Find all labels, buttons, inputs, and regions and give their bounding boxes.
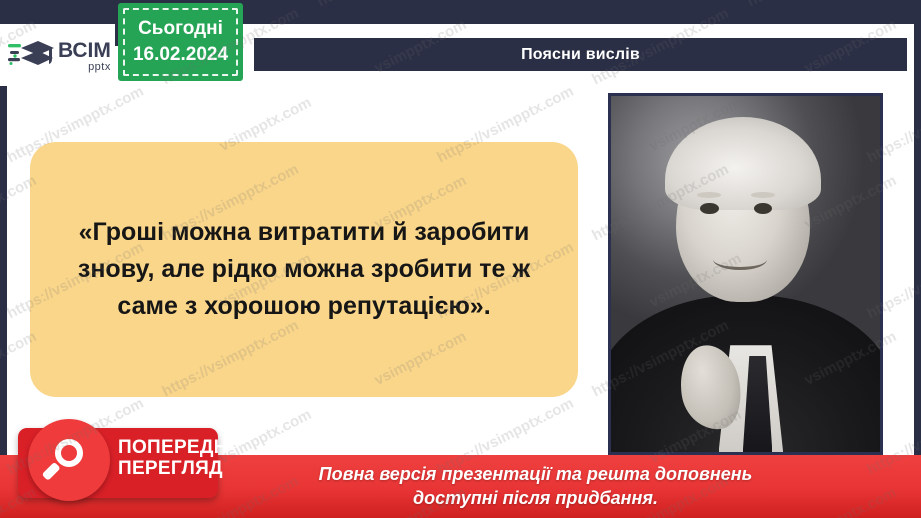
header-title-bar: Пояcни вислів [254,38,907,71]
date-card: Сьогодні 16.02.2024 [118,3,243,81]
quote-card: «Гроші можна витратити й заробити знову,… [30,142,578,397]
magnifier-icon [28,419,110,501]
photo-brow-right [751,192,775,198]
banner-text: Повна версія презентації та решта доповн… [169,463,753,511]
logo-brand-text: ВСІМ [58,40,111,61]
photo-brow-left [697,192,721,198]
date-label: Сьогодні [138,16,223,42]
photo-mouth [713,249,767,270]
preview-badge-line-1: ПОПЕРЕДНІЙ [118,437,212,458]
graduation-cap-icon [8,36,54,76]
magnifier-ring [55,439,83,467]
logo-suffix-text: pptx [58,62,111,73]
preview-badge-line-2: ПЕРЕГЛЯД [118,458,212,479]
photo-eye-left [700,203,719,214]
date-value: 16.02.2024 [133,42,228,68]
banner-line-1: Повна версія презентації та решта доповн… [319,464,753,484]
slide-canvas: ВСІМ pptx Сьогодні 16.02.2024 Пояcни вис… [0,0,921,518]
banner-line-2: доступні після придбання. [413,488,658,508]
brand-logo: ВСІМ pptx [8,33,116,79]
preview-badge-text: ПОПЕРЕДНІЙ ПЕРЕГЛЯД [118,437,212,480]
quote-text: «Гроші можна витратити й заробити знову,… [52,214,556,325]
right-edge-strip [914,0,921,518]
page-title: Пояcни вислів [521,46,640,64]
portrait-photo [608,93,883,455]
preview-badge[interactable]: ПОПЕРЕДНІЙ ПЕРЕГЛЯД [18,428,218,498]
magnifier-handle [42,462,61,481]
